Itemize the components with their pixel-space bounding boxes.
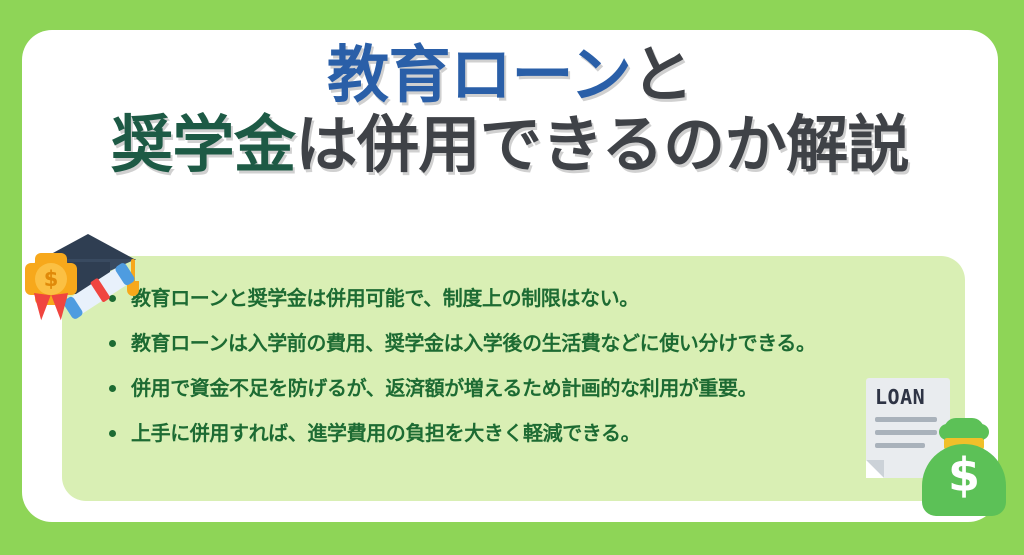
list-item: 併用で資金不足を防げるが、返済額が増えるため計画的な利用が重要。 (105, 378, 905, 423)
money-bag-knot (944, 418, 984, 440)
title-line-1: 教育ローンと (22, 44, 998, 106)
document-fold-corner (866, 460, 884, 478)
title-line-2-highlight: 奨学金 (111, 108, 296, 181)
title-line-1-highlight: 教育ローン (327, 38, 631, 111)
infographic-canvas: 教育ローンと 奨学金は併用できるのか解説 教育ローンと奨学金は併用可能で、制度上… (0, 0, 1024, 555)
medal-ribbon-right-icon (51, 293, 71, 321)
document-text-line (875, 443, 925, 448)
loan-document-title: LOAN (875, 387, 941, 407)
list-item: 教育ローンは入学前の費用、奨学金は入学後の生活費などに使い分けできる。 (105, 333, 905, 378)
money-bag-icon: $ (922, 418, 1006, 516)
title-line-2-rest: は併用できるのか解説 (295, 108, 909, 181)
page-title: 教育ローンと 奨学金は併用できるのか解説 (22, 44, 998, 176)
summary-bullet-list: 教育ローンと奨学金は併用可能で、制度上の制限はない。 教育ローンは入学前の費用、… (105, 288, 905, 468)
medal-ribbon-left-icon (30, 293, 50, 321)
education-icon: $ (18, 232, 146, 342)
title-line-1-rest: と (631, 38, 693, 111)
loan-icon: LOAN $ (866, 378, 1006, 516)
list-item: 教育ローンと奨学金は併用可能で、制度上の制限はない。 (105, 288, 905, 333)
medal-dollar-symbol: $ (35, 263, 67, 295)
money-bag-dollar-symbol: $ (922, 452, 1006, 498)
list-item: 上手に併用すれば、進学費用の負担を大きく軽減できる。 (105, 423, 905, 468)
title-line-2: 奨学金は併用できるのか解説 (22, 114, 998, 176)
